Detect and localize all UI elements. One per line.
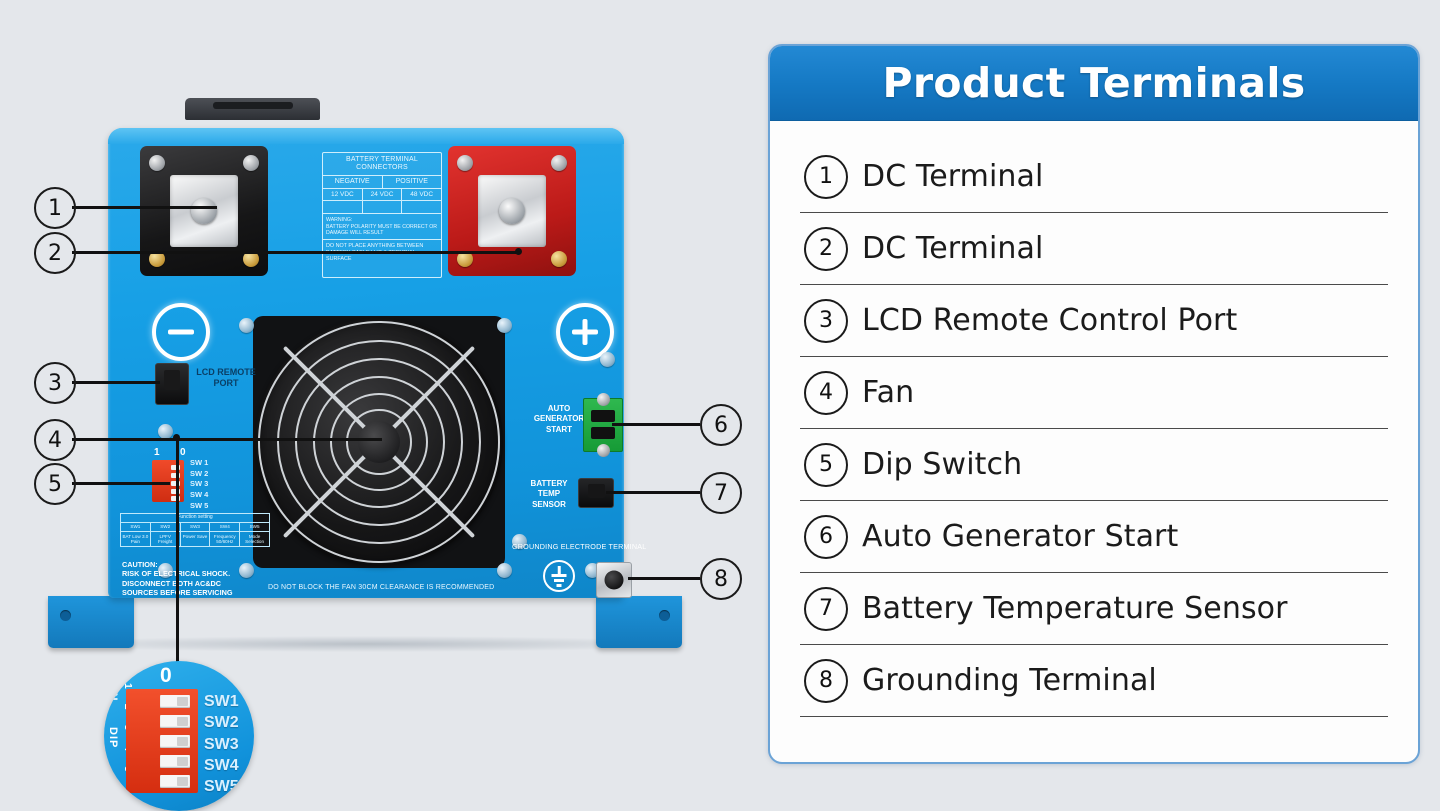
ft-val: Power Save xyxy=(181,532,211,546)
mounting-foot-left xyxy=(48,596,134,648)
terminal-row-7[interactable]: 7 Battery Temperature Sensor xyxy=(800,573,1388,645)
dip-zoom-sw2: SW2 xyxy=(204,712,239,733)
terminal-screw xyxy=(243,155,259,171)
battery-label-positive: POSITIVE xyxy=(383,176,442,188)
callout-3[interactable]: 3 xyxy=(34,362,76,404)
ft-val: BAT Low 3.0 Pain xyxy=(121,532,151,546)
terminal-row-5[interactable]: 5 Dip Switch xyxy=(800,429,1388,501)
ft-col: SW5 xyxy=(240,523,269,531)
terminal-label-6: Auto Generator Start xyxy=(862,519,1178,554)
leader-line-3 xyxy=(72,381,160,384)
function-table-cols: SW1 SW2 SW3 SW4 SW5 xyxy=(121,523,269,532)
panel-title: Product Terminals xyxy=(883,59,1306,107)
fan-hub xyxy=(358,421,400,463)
battery-label-12vdc: 12 VDC xyxy=(323,189,363,201)
dip-zoom-sw3: SW3 xyxy=(204,734,239,755)
terminal-label-7: Battery Temperature Sensor xyxy=(862,591,1288,626)
foot-hole xyxy=(659,610,670,621)
dc-terminal-negative xyxy=(140,146,268,276)
dip-zoom-on-label: ON xyxy=(107,683,119,702)
terminal-screw xyxy=(457,155,473,171)
dip-zoom-sw4: SW4 xyxy=(204,755,239,776)
terminal-number-3: 3 xyxy=(804,299,848,343)
dip-zoom-dip-label: DIP xyxy=(107,727,119,748)
terminal-row-6[interactable]: 6 Auto Generator Start xyxy=(800,501,1388,573)
product-terminals-panel: Product Terminals 1 DC Terminal 2 DC Ter… xyxy=(768,44,1420,764)
terminal-label-5: Dip Switch xyxy=(862,447,1022,482)
terminal-plate xyxy=(478,175,546,247)
leader-line-4 xyxy=(72,438,382,441)
leader-line-1 xyxy=(72,206,217,209)
battery-label-48vdc: 48 VDC xyxy=(402,189,441,201)
dip-zoom-body xyxy=(126,689,198,793)
dip-switch-magnified: 0 ON DIP 1 2 3 4 5 SW1 SW2 SW3 SW4 SW5 xyxy=(104,661,254,811)
dip-one-label: 1 xyxy=(154,447,160,458)
terminal-bolt xyxy=(499,198,525,224)
terminal-row-3[interactable]: 3 LCD Remote Control Port xyxy=(800,285,1388,357)
callout-8[interactable]: 8 xyxy=(700,558,742,600)
lcd-remote-port xyxy=(155,363,189,405)
battery-label-24vdc: 24 VDC xyxy=(363,189,403,201)
terminal-number-8: 8 xyxy=(804,659,848,703)
terminal-bolt xyxy=(191,198,217,224)
battery-label-title: BATTERY TERMINAL CONNECTORS xyxy=(323,153,441,176)
dip-zoom-sw5: SW5 xyxy=(204,776,239,797)
battery-label-blank-row xyxy=(323,201,441,214)
terminal-number-1: 1 xyxy=(804,155,848,199)
grounding-bolt xyxy=(605,571,624,590)
callout-7[interactable]: 7 xyxy=(700,472,742,514)
leader-line-7 xyxy=(606,491,700,494)
terminal-row-4[interactable]: 4 Fan xyxy=(800,357,1388,429)
case-screw xyxy=(600,352,615,367)
leader-line-2 xyxy=(72,251,520,254)
dip-switch-unit xyxy=(152,460,184,502)
ft-col: SW1 xyxy=(121,523,151,531)
callout-6[interactable]: 6 xyxy=(700,404,742,446)
terminal-screw xyxy=(149,155,165,171)
terminal-label-2: DC Terminal xyxy=(862,231,1043,266)
function-table-header: Function setting xyxy=(121,514,269,523)
terminal-number-4: 4 xyxy=(804,371,848,415)
battery-label-warning: WARNING: BATTERY POLARITY MUST BE CORREC… xyxy=(323,214,441,240)
terminal-screw xyxy=(551,251,567,267)
terminal-row-8[interactable]: 8 Grounding Terminal xyxy=(800,645,1388,717)
grounding-terminal xyxy=(596,562,632,598)
mounting-foot-right xyxy=(596,596,682,648)
cooling-fan xyxy=(255,318,503,566)
screenshot-root: BATTERY TERMINAL CONNECTORS NEGATIVE POS… xyxy=(0,0,1440,810)
callout-1[interactable]: 1 xyxy=(34,187,76,229)
lcd-remote-port-label: LCD REMOTE PORT xyxy=(196,367,256,390)
minus-symbol-icon xyxy=(152,303,210,361)
product-shadow xyxy=(46,636,686,652)
jack-notch xyxy=(164,370,180,390)
leader-line-6 xyxy=(612,423,700,426)
leader-line-8 xyxy=(628,577,700,580)
ft-val: Frequency 50/60Hz xyxy=(210,532,240,546)
terminal-label-3: LCD Remote Control Port xyxy=(862,303,1237,338)
carry-handle xyxy=(185,98,320,120)
terminal-screw xyxy=(551,155,567,171)
callout-4[interactable]: 4 xyxy=(34,419,76,461)
dc-terminal-positive xyxy=(448,146,576,276)
terminal-plate xyxy=(170,175,238,247)
dip-zoom-leader-line xyxy=(176,437,179,667)
ft-col: SW3 xyxy=(181,523,211,531)
ft-val: Mode Selection xyxy=(240,532,269,546)
auto-generator-start-label: AUTO GENERATOR START xyxy=(531,404,587,435)
terminal-label-1: DC Terminal xyxy=(862,159,1043,194)
terminal-label-4: Fan xyxy=(862,375,914,410)
function-setting-table: Function setting SW1 SW2 SW3 SW4 SW5 BAT… xyxy=(120,513,270,547)
dip-leader-dot xyxy=(173,434,180,441)
case-screw xyxy=(497,318,512,333)
terminal-number-6: 6 xyxy=(804,515,848,559)
case-screw xyxy=(239,318,254,333)
dip-zoom-sw1: SW1 xyxy=(204,691,239,712)
battery-temp-sensor-label: BATTERY TEMP SENSOR xyxy=(523,479,575,510)
foot-hole xyxy=(60,610,71,621)
leader-line-5 xyxy=(72,482,170,485)
terminal-row-2[interactable]: 2 DC Terminal xyxy=(800,213,1388,285)
function-table-values: BAT Low 3.0 Pain LPFV Freight Power Save… xyxy=(121,532,269,546)
case-screw xyxy=(158,424,173,439)
terminal-label-8: Grounding Terminal xyxy=(862,663,1157,698)
handle-slot xyxy=(213,102,293,109)
battery-label-negative: NEGATIVE xyxy=(323,176,383,188)
case-screw xyxy=(239,563,254,578)
product-image: BATTERY TERMINAL CONNECTORS NEGATIVE POS… xyxy=(0,0,768,810)
terminal-number-7: 7 xyxy=(804,587,848,631)
dip-zero-label: 0 xyxy=(180,447,186,458)
terminal-number-2: 2 xyxy=(804,227,848,271)
case-screw xyxy=(497,563,512,578)
dip-zoom-zero: 0 xyxy=(160,664,172,688)
grounding-electrode-label: GROUNDING ELECTRODE TERMINAL xyxy=(512,542,646,551)
dip-zoom-switch-labels: SW1 SW2 SW3 SW4 SW5 xyxy=(204,691,239,797)
ft-col: SW4 xyxy=(210,523,240,531)
battery-terminal-label: BATTERY TERMINAL CONNECTORS NEGATIVE POS… xyxy=(322,152,442,278)
terminal-list: 1 DC Terminal 2 DC Terminal 3 LCD Remote… xyxy=(770,121,1418,727)
callout-2[interactable]: 2 xyxy=(34,232,76,274)
panel-header: Product Terminals xyxy=(770,46,1418,121)
dip-switch-names: SW 1SW 2SW 3SW 4SW 5 xyxy=(190,458,208,511)
callout-5[interactable]: 5 xyxy=(34,463,76,505)
battery-warning-text: BATTERY POLARITY MUST BE CORRECT OR DAMA… xyxy=(326,224,438,237)
inverter-top-edge xyxy=(108,128,624,144)
terminal-number-5: 5 xyxy=(804,443,848,487)
ground-symbol-icon xyxy=(543,560,575,592)
leader-dot-2 xyxy=(515,248,522,255)
jack-notch xyxy=(588,484,605,498)
fan-warning-text: DO NOT BLOCK THE FAN 30CM CLEARANCE IS R… xyxy=(268,584,494,591)
terminal-row-1[interactable]: 1 DC Terminal xyxy=(800,141,1388,213)
